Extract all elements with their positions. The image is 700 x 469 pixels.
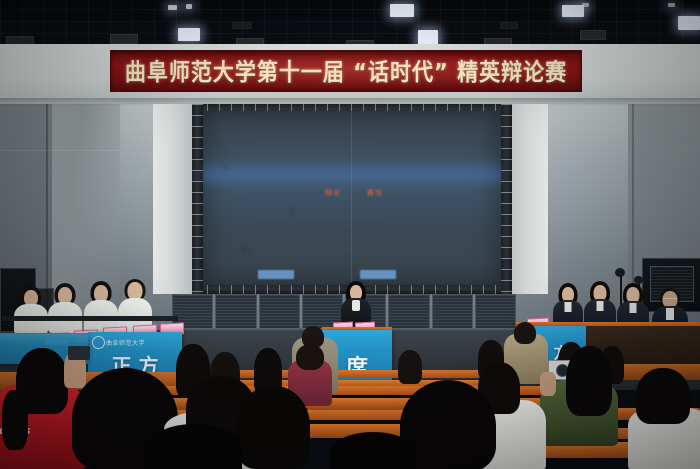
ceiling-panel <box>500 22 518 29</box>
truss-left <box>192 104 203 294</box>
audience-head <box>236 386 310 469</box>
shirt <box>565 302 572 312</box>
screen-blemish <box>225 153 228 156</box>
louver-panel <box>259 294 300 330</box>
screen-highlight-left <box>258 270 294 279</box>
screen-highlight-right <box>360 270 396 279</box>
truss-right <box>501 104 512 294</box>
louver-panel <box>215 294 256 330</box>
ceiling-light <box>562 5 584 17</box>
projection-screen: 辩论 赛场 <box>203 111 501 285</box>
debater-affirmative-4 <box>14 286 48 334</box>
screen-faint-text-right: 赛场 <box>367 188 383 198</box>
ceiling-panel <box>580 30 606 40</box>
audience-foreground: adidas <box>0 346 700 469</box>
shirt <box>630 303 637 313</box>
ceiling-light <box>178 28 200 41</box>
audience-head <box>566 346 612 416</box>
screen-faint-text-left: 辩论 <box>325 188 341 198</box>
ceiling-light <box>668 3 675 7</box>
audience-head <box>330 432 416 469</box>
ceiling-panel <box>110 34 138 44</box>
debater-affirmative-2 <box>84 281 118 333</box>
shirt <box>597 301 604 311</box>
screen-blue-band <box>203 160 501 188</box>
louver-panel <box>432 294 473 330</box>
stage-pillar-left <box>153 104 193 294</box>
glasses-icon <box>663 298 677 302</box>
ceiling-light <box>186 4 192 9</box>
ceiling-light <box>390 4 414 17</box>
louver-panel <box>388 294 429 330</box>
louver-panel <box>475 294 516 330</box>
auditorium-scene: 曲阜师范大学第十一届 “话时代” 精英辩论赛 辩论 赛场 <box>0 0 700 469</box>
affirmative-table-shadow <box>2 316 178 321</box>
wall-seam <box>640 150 700 151</box>
phone-device <box>68 346 90 360</box>
wall-seam <box>0 150 120 151</box>
stage-pillar-right <box>508 104 548 294</box>
event-banner: 曲阜师范大学第十一届 “话时代” 精英辩论赛 <box>110 50 582 92</box>
ceiling-panel <box>232 22 252 29</box>
event-banner-text: 曲阜师范大学第十一届 “话时代” 精英辩论赛 <box>125 54 567 88</box>
photographer-hand <box>540 372 556 396</box>
audience-head <box>146 424 242 469</box>
blouse-collar <box>352 300 360 311</box>
screen-seam <box>351 111 352 285</box>
debater-affirmative-3 <box>48 283 82 333</box>
audience-head <box>514 322 536 344</box>
screen-blemish <box>290 209 295 213</box>
ceiling-light <box>678 16 700 30</box>
shirt <box>666 308 674 320</box>
screen-blemish <box>223 165 227 169</box>
audience-head <box>636 368 690 424</box>
ceiling-light <box>168 5 177 10</box>
ceiling-light <box>582 3 589 7</box>
mic-head <box>615 268 625 277</box>
screen-blemish <box>241 248 248 252</box>
audience-ponytail <box>2 390 28 450</box>
audience-head <box>296 344 324 370</box>
